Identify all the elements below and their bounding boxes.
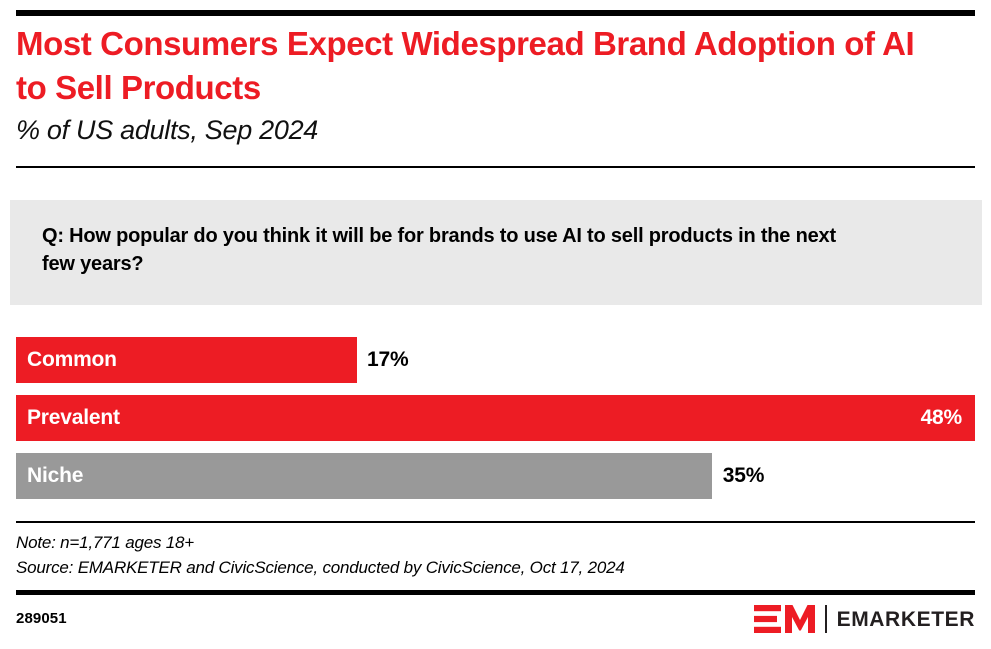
note-text: Note: n=1,771 ages 18+ <box>16 531 956 556</box>
bar-row: Prevalent 48% <box>16 395 975 441</box>
emarketer-logo: EMARKETER <box>754 604 975 634</box>
page-subtitle: % of US adults, Sep 2024 <box>16 116 916 146</box>
bar-value: 17% <box>367 348 408 372</box>
footer-divider-rule <box>16 590 975 595</box>
note-source-block: Note: n=1,771 ages 18+ Source: EMARKETER… <box>16 531 956 580</box>
note-divider-rule <box>16 521 975 523</box>
bar-label: Common <box>16 348 117 372</box>
bar-fill-niche: Niche <box>16 453 712 499</box>
brand-wordmark: EMARKETER <box>837 609 975 630</box>
bar-value: 48% <box>921 406 962 430</box>
chart-page: Most Consumers Expect Widespread Brand A… <box>0 0 991 649</box>
bar-label: Prevalent <box>16 406 120 430</box>
chart-id: 289051 <box>16 610 67 627</box>
bar-value: 35% <box>723 464 764 488</box>
bar-fill-common: Common <box>16 337 357 383</box>
bar-row: Common 17% <box>16 337 975 383</box>
question-text: Q: How popular do you think it will be f… <box>42 222 872 279</box>
em-logo-icon <box>754 605 816 633</box>
bar-chart: Common 17% Prevalent 48% Niche 35% <box>16 337 975 499</box>
bar-label: Niche <box>16 464 83 488</box>
page-title: Most Consumers Expect Widespread Brand A… <box>16 22 916 109</box>
subtitle-divider-rule <box>16 166 975 168</box>
logo-divider <box>825 605 827 633</box>
source-text: Source: EMARKETER and CivicScience, cond… <box>16 556 956 581</box>
top-divider-rule <box>16 10 975 16</box>
bar-fill-prevalent: Prevalent 48% <box>16 395 975 441</box>
bar-row: Niche 35% <box>16 453 975 499</box>
